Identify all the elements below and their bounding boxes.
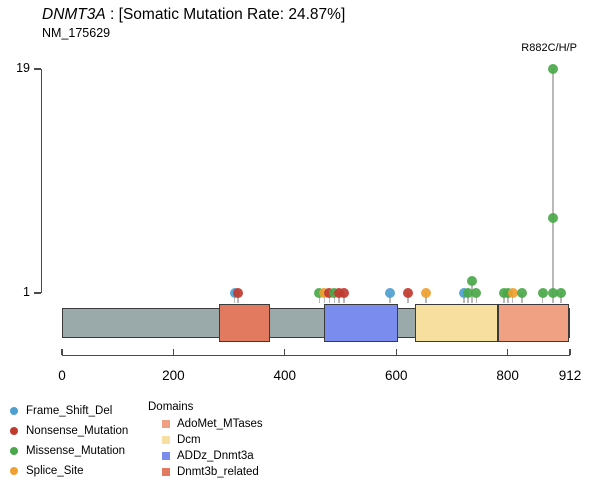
legend-item-missense_mutation[interactable]: Missense_Mutation — [10, 441, 128, 461]
lollipop-stem — [507, 293, 509, 303]
y-axis-tick-label: 19 — [0, 61, 30, 75]
lollipop-stem — [467, 293, 469, 303]
mutation-type-legend: Frame_Shift_DelNonsense_MutationMissense… — [10, 401, 128, 481]
lollipop-stem — [343, 293, 345, 303]
lollipop-plot-canvas: DNMT3A : [Somatic Mutation Rate: 24.87%]… — [0, 0, 600, 500]
protein-domain-dnmt3b_related[interactable] — [219, 304, 270, 342]
legend-color-swatch — [10, 467, 18, 475]
legend-color-swatch — [10, 407, 18, 415]
y-axis-line — [41, 69, 42, 293]
y-axis-tick — [34, 68, 41, 69]
lollipop-stem — [425, 293, 427, 303]
y-axis-tick — [34, 292, 41, 293]
domain-legend-rows: AdoMet_MTasesDcmADDz_Dnmt3aDnmt3b_relate… — [148, 416, 263, 480]
lollipop-stem — [552, 293, 554, 303]
lollipop-head — [459, 288, 469, 298]
page-title: DNMT3A : [Somatic Mutation Rate: 24.87%] — [42, 6, 345, 24]
lollipop-stem — [338, 293, 340, 303]
x-axis-line — [62, 355, 570, 356]
domain-color-swatch — [162, 468, 170, 476]
lollipop-stem — [463, 293, 465, 303]
x-axis-tick — [507, 349, 508, 355]
legend-color-swatch — [10, 447, 18, 455]
domain-color-swatch — [162, 420, 170, 428]
domain-legend-item-addz_dnmt3a[interactable]: ADDz_Dnmt3a — [148, 448, 263, 464]
x-axis-tick-label: 400 — [255, 368, 315, 383]
transcript-id: NM_175629 — [42, 25, 345, 41]
lollipop-stem — [319, 293, 321, 303]
x-axis-tick-label: 912 — [540, 368, 600, 383]
lollipop-head — [324, 288, 334, 298]
legend-item-label: Missense_Mutation — [26, 445, 125, 457]
lollipop-head — [538, 288, 548, 298]
x-axis-tick-label: 800 — [478, 368, 538, 383]
lollipop-head — [421, 288, 431, 298]
lollipop-stem — [471, 281, 473, 303]
domain-legend-item-dcm[interactable]: Dcm — [148, 432, 263, 448]
domain-legend-item-label: ADDz_Dnmt3a — [177, 450, 254, 462]
x-axis-tick-label: 0 — [32, 368, 92, 383]
lollipop-stem — [237, 293, 239, 303]
domain-legend-item-label: Dcm — [177, 434, 201, 446]
lollipop-head — [403, 288, 413, 298]
legend-item-label: Splice_Site — [26, 465, 84, 477]
lollipop-stem — [552, 69, 554, 303]
lollipop-head — [233, 288, 243, 298]
x-axis-tick — [396, 349, 397, 355]
lollipop-head — [314, 288, 324, 298]
x-axis-tick-label: 600 — [366, 368, 426, 383]
legend-item-splice_site[interactable]: Splice_Site — [10, 461, 128, 481]
x-axis-tick — [569, 349, 570, 355]
domain-legend-item-label: AdoMet_MTases — [177, 418, 263, 430]
domain-legend-item-label: Dnmt3b_related — [177, 466, 259, 478]
lollipop-head — [230, 288, 240, 298]
lollipop-stem — [560, 293, 562, 303]
legend-item-nonsense_mutation[interactable]: Nonsense_Mutation — [10, 421, 128, 441]
domain-legend-item-dnmt3b_related[interactable]: Dnmt3b_related — [148, 464, 263, 480]
lollipop-head — [548, 64, 558, 74]
y-axis-tick-label: 1 — [0, 285, 30, 299]
lollipop-stem — [503, 293, 505, 303]
lollipop-stem — [234, 293, 236, 303]
x-axis-tick — [173, 349, 174, 355]
lollipop-head — [319, 288, 329, 298]
lollipop-stem — [542, 293, 544, 303]
protein-domain-dcm[interactable] — [415, 304, 499, 342]
domain-color-swatch — [162, 436, 170, 444]
lollipop-stem — [552, 218, 554, 303]
lollipop-head — [499, 288, 509, 298]
lollipop-head — [503, 288, 513, 298]
lollipop-stem — [324, 293, 326, 303]
hotspot-annotation-label: R882C/H/P — [521, 42, 577, 54]
lollipop-stem — [407, 293, 409, 303]
lollipop-stem — [389, 293, 391, 303]
lollipop-head — [467, 276, 477, 286]
protein-domain-addz_dnmt3a[interactable] — [324, 304, 399, 342]
lollipop-head — [508, 288, 518, 298]
legend-item-frame_shift_del[interactable]: Frame_Shift_Del — [10, 401, 128, 421]
x-axis-tick-label: 200 — [143, 368, 203, 383]
title-separator: : — [106, 6, 119, 23]
lollipop-head — [548, 288, 558, 298]
domain-legend-title: Domains — [148, 401, 263, 413]
lollipop-head — [385, 288, 395, 298]
legend-item-label: Nonsense_Mutation — [26, 425, 128, 437]
gene-name: DNMT3A — [42, 6, 106, 23]
lollipop-head — [471, 288, 481, 298]
x-axis-tick — [284, 349, 285, 355]
lollipop-head — [463, 288, 473, 298]
domain-color-swatch — [162, 452, 170, 460]
legend-color-swatch — [10, 427, 18, 435]
domain-legend: Domains AdoMet_MTasesDcmADDz_Dnmt3aDnmt3… — [148, 401, 263, 480]
lollipop-head — [556, 288, 566, 298]
lollipop-stem — [329, 293, 331, 303]
x-axis-tick — [61, 349, 62, 355]
lollipop-stem — [512, 293, 514, 303]
title-block: DNMT3A : [Somatic Mutation Rate: 24.87%]… — [42, 6, 345, 41]
legend-item-label: Frame_Shift_Del — [26, 405, 112, 417]
mutation-rate-text: [Somatic Mutation Rate: 24.87%] — [119, 6, 346, 23]
protein-domain-adomet_mtases[interactable] — [498, 304, 569, 342]
lollipop-head — [548, 213, 558, 223]
lollipop-head — [517, 288, 527, 298]
lollipop-stem — [521, 293, 523, 303]
lollipop-stem — [334, 293, 336, 303]
lollipop-head — [329, 288, 339, 298]
lollipop-head — [334, 288, 344, 298]
domain-legend-item-adomet_mtases[interactable]: AdoMet_MTases — [148, 416, 263, 432]
lollipop-stem — [476, 293, 478, 303]
lollipop-head — [339, 288, 349, 298]
